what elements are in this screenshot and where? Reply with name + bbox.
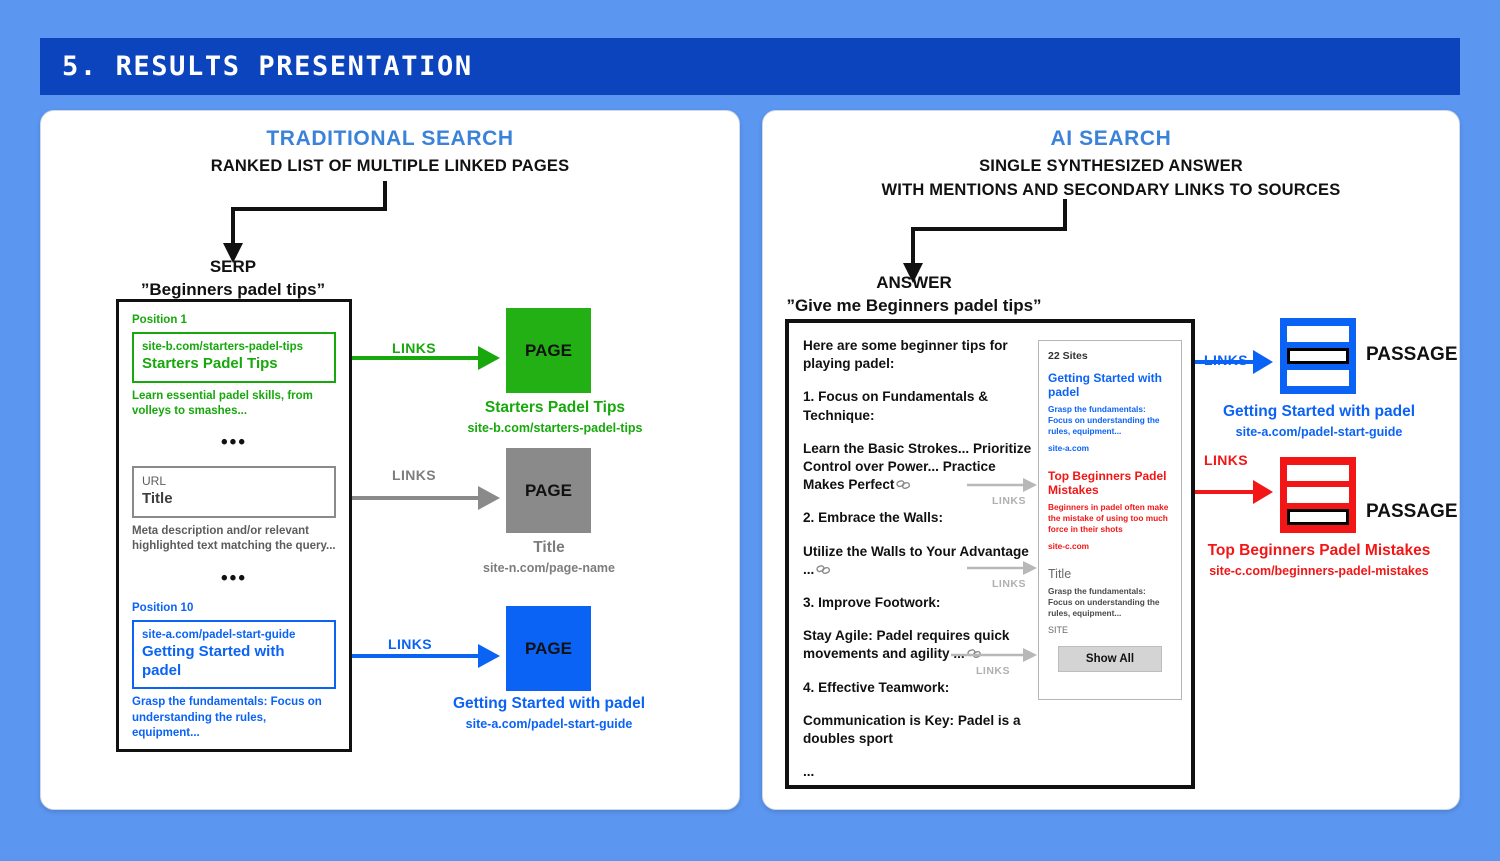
ai-answer-text: Here are some beginner tips for playing … xyxy=(803,337,1035,781)
links-label-blue: LINKS xyxy=(388,636,432,652)
right-panel-subtitle-1: SINGLE SYNTHESIZED ANSWER xyxy=(763,156,1459,178)
page-caption-blue-title: Getting Started with padel xyxy=(414,694,684,714)
inner-links-label-1: LINKS xyxy=(992,495,1026,507)
page-caption-blue-url: site-a.com/padel-start-guide xyxy=(414,717,684,731)
serp-ellipsis-2: ••• xyxy=(132,568,336,590)
serp-result-1[interactable]: site-b.com/starters-padel-tips Starters … xyxy=(132,332,336,383)
answer-paragraph-9: ... xyxy=(803,763,1035,781)
page-caption-green-url: site-b.com/starters-padel-tips xyxy=(420,421,690,435)
serp-result-3-snippet: Grasp the fundamentals: Focus on underst… xyxy=(132,695,336,741)
site-item-1-url: site-a.com xyxy=(1048,443,1172,453)
page-caption-gray-url: site-n.com/page-name xyxy=(414,561,684,575)
serp-result-3-url: site-a.com/padel-start-guide xyxy=(142,628,326,642)
site-item-1[interactable]: Getting Started with padel Grasp the fun… xyxy=(1048,371,1172,453)
page-caption-gray: Title site-n.com/page-name xyxy=(414,538,684,575)
passage-blue-icon[interactable] xyxy=(1280,318,1356,394)
ai-answer-box: Here are some beginner tips for playing … xyxy=(785,319,1195,789)
passage-blue-group: PASSAGE Getting Started with padel site-… xyxy=(1280,318,1356,394)
links-label-passage-red: LINKS xyxy=(1204,452,1248,468)
site-item-2-url: site-c.com xyxy=(1048,541,1172,551)
serp-result-3[interactable]: site-a.com/padel-start-guide Getting Sta… xyxy=(132,620,336,690)
serp-result-1-url: site-b.com/starters-padel-tips xyxy=(142,340,326,354)
left-panel-title: TRADITIONAL SEARCH xyxy=(41,127,739,151)
answer-paragraph-2: Learn the Basic Strokes... Prioritize Co… xyxy=(803,440,1035,495)
serp-position-10-label: Position 10 xyxy=(132,602,336,614)
show-all-button[interactable]: Show All xyxy=(1058,646,1162,672)
answer-paragraph-4: Utilize the Walls to Your Advantage ... xyxy=(803,543,1035,579)
page-tile-blue[interactable]: PAGE xyxy=(506,606,591,691)
answer-paragraph-7: 4. Effective Teamwork: xyxy=(803,679,1035,697)
link-chain-icon-1[interactable] xyxy=(896,479,911,490)
page-caption-blue: Getting Started with padel site-a.com/pa… xyxy=(414,694,684,731)
answer-paragraph-6: Stay Agile: Padel requires quick movemen… xyxy=(803,627,1035,663)
answer-paragraph-3: 2. Embrace the Walls: xyxy=(803,509,1035,527)
serp-result-2[interactable]: URL Title xyxy=(132,466,336,518)
right-panel-heading: AI SEARCH SINGLE SYNTHESIZED ANSWER WITH… xyxy=(763,127,1459,202)
site-item-1-snippet: Grasp the fundamentals: Focus on underst… xyxy=(1048,404,1172,437)
serp-node-label: SERP ”Beginners padel tips” xyxy=(133,255,333,302)
sources-sites-panel: 22 Sites Getting Started with padel Gras… xyxy=(1038,340,1182,700)
inner-links-label-2: LINKS xyxy=(992,578,1026,590)
answer-paragraph-1: 1. Focus on Fundamentals & Technique: xyxy=(803,388,1035,424)
links-label-passage-blue: LINKS xyxy=(1204,352,1248,368)
page-caption-green-title: Starters Padel Tips xyxy=(420,398,690,418)
serp-result-2-url: URL xyxy=(142,474,326,489)
left-panel-subtitle: RANKED LIST OF MULTIPLE LINKED PAGES xyxy=(41,156,739,178)
passage-bar-1 xyxy=(1287,465,1349,481)
page-caption-gray-title: Title xyxy=(414,538,684,558)
answer-paragraph-5: 3. Improve Footwork: xyxy=(803,594,1035,612)
passage-blue-label: PASSAGE xyxy=(1366,344,1458,366)
page-tile-gray[interactable]: PAGE xyxy=(506,448,591,533)
passage-bar-3-highlighted xyxy=(1287,509,1349,525)
page-tile-green[interactable]: PAGE xyxy=(506,308,591,393)
serp-result-1-snippet: Learn essential padel skills, from volle… xyxy=(132,389,336,419)
site-item-2-snippet: Beginners in padel often make the mistak… xyxy=(1048,502,1172,535)
passage-blue-caption-title: Getting Started with padel xyxy=(1185,402,1453,422)
passage-blue-caption: Getting Started with padel site-a.com/pa… xyxy=(1185,402,1453,439)
passage-red-label: PASSAGE xyxy=(1366,501,1458,523)
links-label-gray: LINKS xyxy=(392,467,436,483)
sites-count-label: 22 Sites xyxy=(1048,350,1172,362)
answer-paragraph-0: Here are some beginner tips for playing … xyxy=(803,337,1035,373)
answer-node-label: ANSWER ”Give me Beginners padel tips” xyxy=(783,271,1045,318)
left-panel-heading: TRADITIONAL SEARCH RANKED LIST OF MULTIP… xyxy=(41,127,739,178)
passage-bar-2-highlighted xyxy=(1287,348,1349,364)
link-chain-icon-3[interactable] xyxy=(967,648,982,659)
passage-red-caption: Top Beginners Padel Mistakes site-c.com/… xyxy=(1175,541,1463,578)
right-panel-title: AI SEARCH xyxy=(763,127,1459,151)
page-caption-green: Starters Padel Tips site-b.com/starters-… xyxy=(420,398,690,435)
passage-bar-2 xyxy=(1287,487,1349,503)
section-header-bar: 5. RESULTS PRESENTATION xyxy=(40,38,1460,95)
serp-position-1-label: Position 1 xyxy=(132,314,336,326)
serp-ellipsis-1: ••• xyxy=(132,432,336,454)
site-item-3[interactable]: Title Grasp the fundamentals: Focus on u… xyxy=(1048,567,1172,635)
site-item-1-title: Getting Started with padel xyxy=(1048,371,1172,400)
passage-bar-3 xyxy=(1287,370,1349,386)
serp-result-2-snippet: Meta description and/or relevant highlig… xyxy=(132,524,336,554)
site-item-3-snippet: Grasp the fundamentals: Focus on underst… xyxy=(1048,586,1172,619)
site-item-2[interactable]: Top Beginners Padel Mistakes Beginners i… xyxy=(1048,469,1172,551)
right-panel-subtitle-2: WITH MENTIONS AND SECONDARY LINKS TO SOU… xyxy=(763,180,1459,202)
link-chain-icon-2[interactable] xyxy=(816,564,831,575)
site-item-3-url: SITE xyxy=(1048,625,1172,635)
passage-blue-caption-url: site-a.com/padel-start-guide xyxy=(1185,425,1453,439)
serp-result-1-title: Starters Padel Tips xyxy=(142,355,326,374)
inner-links-label-3: LINKS xyxy=(976,665,1010,677)
page-title: 5. RESULTS PRESENTATION xyxy=(40,51,473,82)
serp-result-3-title: Getting Started with padel xyxy=(142,643,326,681)
passage-red-group: PASSAGE Top Beginners Padel Mistakes sit… xyxy=(1280,457,1356,533)
serp-result-2-title: Title xyxy=(142,490,326,509)
passage-red-caption-title: Top Beginners Padel Mistakes xyxy=(1175,541,1463,561)
site-item-2-title: Top Beginners Padel Mistakes xyxy=(1048,469,1172,498)
answer-paragraph-8: Communication is Key: Padel is a doubles… xyxy=(803,712,1035,748)
serp-box: Position 1 site-b.com/starters-padel-tip… xyxy=(116,299,352,752)
passage-red-caption-url: site-c.com/beginners-padel-mistakes xyxy=(1175,564,1463,578)
passage-red-icon[interactable] xyxy=(1280,457,1356,533)
passage-bar-1 xyxy=(1287,326,1349,342)
links-label-green: LINKS xyxy=(392,340,436,356)
site-item-3-title: Title xyxy=(1048,567,1172,582)
